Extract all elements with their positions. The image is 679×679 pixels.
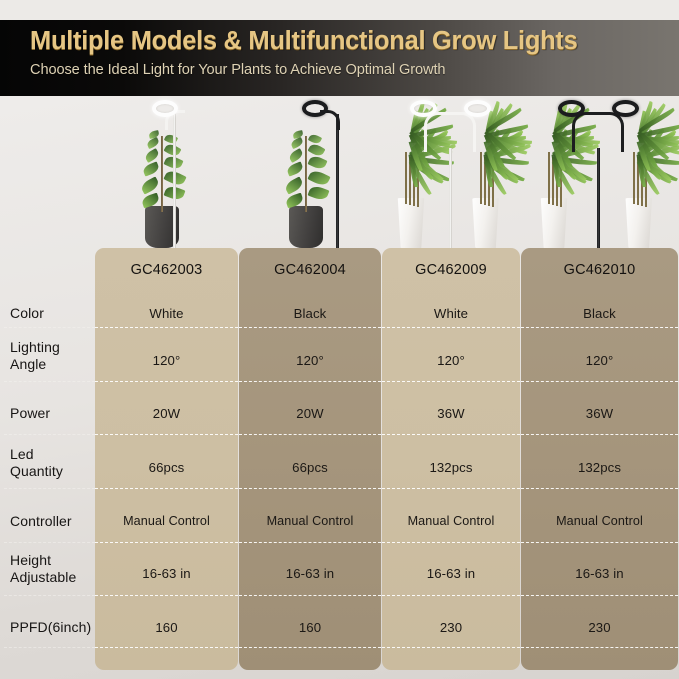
cell-gc462004-r4: Manual Control <box>239 514 381 528</box>
model-number: GC462010 <box>521 262 678 278</box>
row-divider <box>521 488 678 489</box>
row-divider <box>382 488 520 489</box>
cell-gc462009-r0: White <box>382 306 520 321</box>
model-number: GC462009 <box>382 262 520 278</box>
cell-gc462009-r5: 16-63 in <box>382 566 520 581</box>
cell-gc462010-r4: Manual Control <box>521 514 678 528</box>
cell-gc462010-r5: 16-63 in <box>521 566 678 581</box>
row-divider <box>382 434 520 435</box>
row-divider <box>239 542 381 543</box>
cell-gc462004-r1: 120° <box>239 353 381 368</box>
cell-gc462004-r3: 66pcs <box>239 460 381 475</box>
row-divider <box>95 488 238 489</box>
row-label-lighting-angle: Lighting Angle <box>10 339 98 373</box>
cell-gc462009-r3: 132pcs <box>382 460 520 475</box>
header-banner: Multiple Models & Multifunctional Grow L… <box>0 20 679 96</box>
comparison-table: GC462003White120°20W66pcsManual Control1… <box>0 96 679 679</box>
row-divider <box>521 542 678 543</box>
row-divider <box>521 434 678 435</box>
row-label-controller: Controller <box>10 513 98 530</box>
row-divider <box>239 647 381 648</box>
row-divider <box>239 434 381 435</box>
cell-gc462010-r1: 120° <box>521 353 678 368</box>
comparison-infographic: Multiple Models & Multifunctional Grow L… <box>0 0 679 679</box>
row-divider <box>521 595 678 596</box>
row-divider <box>382 647 520 648</box>
product-scene: GC462003White120°20W66pcsManual Control1… <box>0 96 679 679</box>
banner-subtitle: Choose the Ideal Light for Your Plants t… <box>30 62 445 78</box>
row-divider <box>95 381 238 382</box>
cell-gc462004-r6: 160 <box>239 620 381 635</box>
row-divider <box>239 327 381 328</box>
row-label-power: Power <box>10 405 98 422</box>
cell-gc462009-r4: Manual Control <box>382 514 520 528</box>
row-divider <box>521 381 678 382</box>
cell-gc462009-r6: 230 <box>382 620 520 635</box>
cell-gc462003-r0: White <box>95 306 238 321</box>
row-divider <box>239 488 381 489</box>
model-number: GC462003 <box>95 262 238 278</box>
model-number: GC462004 <box>239 262 381 278</box>
row-divider <box>382 595 520 596</box>
row-label-column: ColorLighting AnglePowerLed QuantityCont… <box>0 96 95 679</box>
cell-gc462003-r2: 20W <box>95 406 238 421</box>
row-divider <box>95 595 238 596</box>
cell-gc462003-r4: Manual Control <box>95 514 238 528</box>
cell-gc462010-r3: 132pcs <box>521 460 678 475</box>
cell-gc462003-r1: 120° <box>95 353 238 368</box>
cell-gc462003-r3: 66pcs <box>95 460 238 475</box>
cell-gc462003-r5: 16-63 in <box>95 566 238 581</box>
row-divider <box>239 381 381 382</box>
row-divider <box>521 327 678 328</box>
row-divider <box>521 647 678 648</box>
cell-gc462004-r5: 16-63 in <box>239 566 381 581</box>
row-divider <box>382 542 520 543</box>
row-label-led-quantity: Led Quantity <box>10 446 98 480</box>
cell-gc462010-r6: 230 <box>521 620 678 635</box>
row-divider <box>95 542 238 543</box>
row-label-height-adjustable: Height Adjustable <box>10 552 98 586</box>
row-divider <box>95 647 238 648</box>
banner-title: Multiple Models & Multifunctional Grow L… <box>30 27 577 56</box>
row-divider <box>382 381 520 382</box>
row-label-color: Color <box>10 305 98 322</box>
cell-gc462009-r2: 36W <box>382 406 520 421</box>
row-divider <box>382 327 520 328</box>
cell-gc462004-r2: 20W <box>239 406 381 421</box>
cell-gc462010-r0: Black <box>521 306 678 321</box>
cell-gc462003-r6: 160 <box>95 620 238 635</box>
row-divider <box>95 434 238 435</box>
cell-gc462010-r2: 36W <box>521 406 678 421</box>
row-divider <box>239 595 381 596</box>
cell-gc462004-r0: Black <box>239 306 381 321</box>
row-label-ppfd-6inch-: PPFD(6inch) <box>10 619 98 636</box>
row-divider <box>95 327 238 328</box>
cell-gc462009-r1: 120° <box>382 353 520 368</box>
